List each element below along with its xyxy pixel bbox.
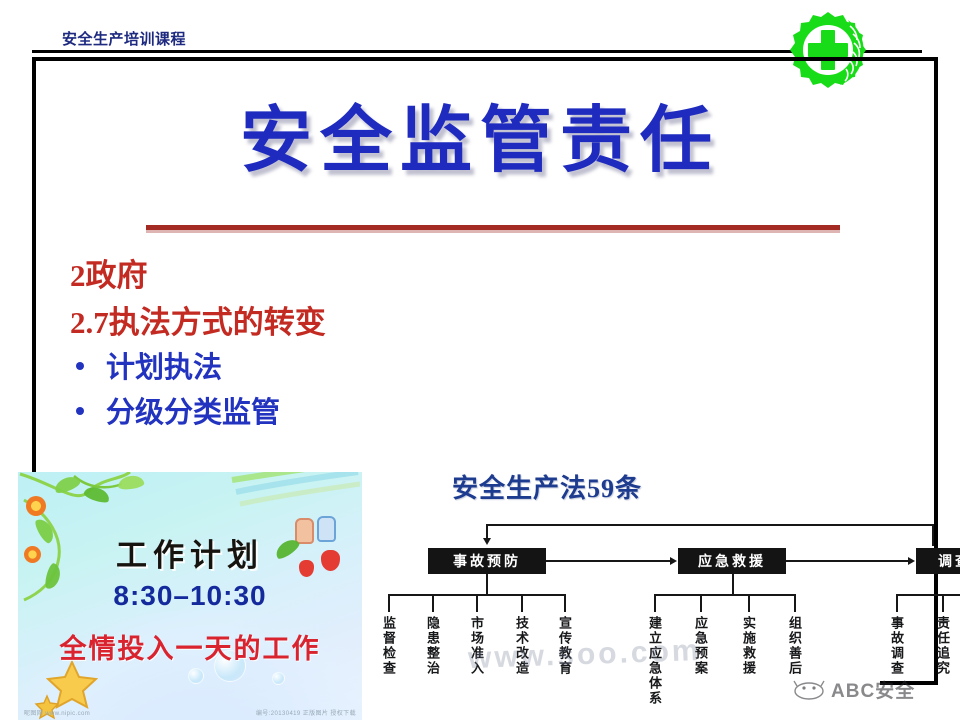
outline-heading-1: 2政府 (70, 252, 570, 299)
diagram-stem-group-1 (486, 574, 488, 596)
photo-subtitle-label: 全情投入一天的工作 (18, 627, 362, 666)
diagram-box-emergency-rescue: 应急救援 (678, 548, 786, 574)
diagram-leaf-build-emergency-system: 建立应急体系 (648, 616, 661, 706)
frame-border-top (32, 57, 938, 61)
diagram-connector-2-3 (786, 560, 908, 562)
safety-production-emblem-icon (786, 8, 870, 92)
photo-time-label: 8:30–10:30 (18, 580, 362, 612)
diagram-arrow-icon-2 (908, 557, 915, 565)
diagram-feedback-arrow-icon (483, 538, 491, 545)
bullet-dot-icon (76, 362, 84, 370)
diagram-drop-g2-3 (748, 594, 750, 612)
diagram-leaf-supervision-inspection: 监督检查 (382, 616, 395, 676)
page-title: 安全监管责任 (0, 104, 960, 180)
diagram-drop-g3-2 (942, 594, 944, 612)
diagram-stem-group-2 (732, 574, 734, 596)
outline-bullet-1-label: 计划执法 (106, 346, 222, 391)
work-plan-photo: 工作计划 8:30–10:30 全情投入一天的工作 昵图网 www.nipic.… (18, 472, 362, 720)
diagram-drop-g1-4 (521, 594, 523, 612)
diagram-leaf-implement-rescue: 实施救援 (742, 616, 755, 676)
diagram-leaf-publicity-education: 宣传教育 (558, 616, 571, 676)
diagram-leaf-hazard-rectification: 隐患整治 (426, 616, 439, 676)
diagram-title-label: 安全生产法59条 (452, 468, 642, 505)
diagram-drop-g2-4 (794, 594, 796, 612)
diagram-box-investigation-handling: 调查处理 (916, 548, 960, 574)
bullet-dot-icon (76, 407, 84, 415)
photo-credit-right: 编号:20130419 正版图片 授权下载 (256, 708, 356, 717)
diagram-feedback-line-horizontal (486, 524, 934, 526)
photo-bubble-decoration (272, 672, 285, 685)
diagram-feedback-line-right (932, 524, 934, 546)
diagram-leaf-emergency-plan: 应急预案 (694, 616, 707, 676)
content-outline: 2政府 2.7执法方式的转变 计划执法 分级分类监管 (70, 252, 570, 436)
diagram-leaf-market-access: 市场准入 (470, 616, 483, 676)
photo-credit-left: 昵图网 www.nipic.com (24, 708, 90, 717)
course-header-label: 安全生产培训课程 (62, 28, 186, 49)
diagram-drop-g1-3 (476, 594, 478, 612)
diagram-drop-g2-2 (700, 594, 702, 612)
diagram-bus-group-3 (896, 594, 960, 596)
safety-law-flow-diagram: 安全生产法59条 事故预防 应急救援 调查处理 监督检查 隐患整治 市场准入 技… (366, 466, 940, 720)
photo-title-label: 工作计划 (18, 530, 362, 575)
diagram-drop-g1-2 (432, 594, 434, 612)
diagram-arrow-icon-1 (670, 557, 677, 565)
diagram-leaf-technical-upgrade: 技术改造 (515, 616, 528, 676)
diagram-drop-g1-5 (564, 594, 566, 612)
diagram-box-accident-prevention: 事故预防 (428, 548, 546, 574)
diagram-leaf-accident-investigation: 事故调查 (890, 616, 903, 676)
diagram-connector-1-2 (546, 560, 670, 562)
outline-bullet-2: 分级分类监管 (76, 391, 570, 436)
outline-bullet-1: 计划执法 (76, 346, 570, 391)
diagram-drop-g1-1 (388, 594, 390, 612)
diagram-drop-g2-1 (654, 594, 656, 612)
diagram-drop-g3-1 (896, 594, 898, 612)
diagram-leaf-organize-aftermath: 组织善后 (788, 616, 801, 676)
outline-heading-2: 2.7执法方式的转变 (70, 299, 570, 346)
title-underline-rule (146, 225, 840, 230)
photo-bubble-decoration (188, 668, 204, 684)
diagram-leaf-accountability: 责任追究 (936, 616, 949, 676)
outline-bullet-2-label: 分级分类监管 (106, 391, 280, 436)
diagram-bus-group-2 (654, 594, 796, 596)
work-plan-photo-art: 工作计划 8:30–10:30 全情投入一天的工作 昵图网 www.nipic.… (18, 472, 362, 720)
photo-flower-icon (26, 496, 46, 516)
slide-canvas: 安全生产培训课程 (0, 0, 960, 720)
